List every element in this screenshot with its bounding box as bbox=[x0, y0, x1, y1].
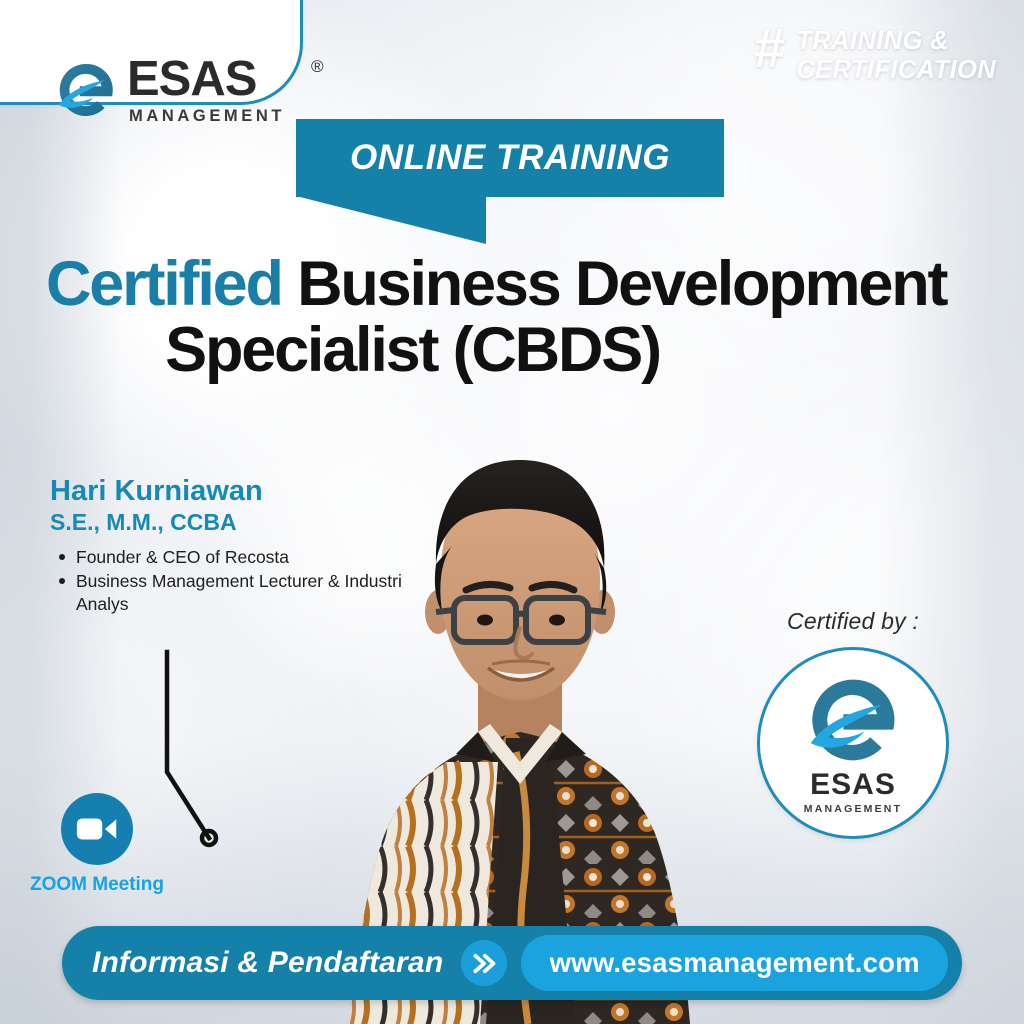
title-line-1-rest: Business Development bbox=[297, 249, 946, 319]
title-accent-word: Certified bbox=[46, 249, 282, 319]
badge-subtitle: MANAGEMENT bbox=[804, 803, 902, 815]
hash-icon: # bbox=[753, 22, 784, 74]
esas-logo: ESAS MANAGEMENT ® bbox=[55, 55, 285, 125]
poster-canvas: ESAS MANAGEMENT ® # TRAINING & CERTIFICA… bbox=[0, 0, 1024, 1024]
title-line-2: Specialist (CBDS) bbox=[46, 318, 994, 382]
esas-e-mark-icon bbox=[55, 59, 117, 121]
certified-by-block: Certified by : ESAS MANAGEMENT bbox=[744, 608, 962, 839]
zoom-meeting-label: ZOOM Meeting bbox=[22, 874, 172, 896]
training-certification-tagline: # TRAINING & CERTIFICATION bbox=[753, 22, 996, 84]
ribbon-tail bbox=[296, 196, 486, 244]
tagline-line-2: CERTIFICATION bbox=[796, 56, 996, 85]
video-camera-icon bbox=[61, 793, 133, 865]
ribbon-label: ONLINE TRAINING bbox=[296, 119, 724, 197]
online-training-ribbon: ONLINE TRAINING bbox=[296, 119, 724, 197]
badge-wordmark: ESAS bbox=[810, 770, 896, 800]
logo-subtitle: MANAGEMENT bbox=[129, 108, 285, 125]
certified-by-label: Certified by : bbox=[744, 608, 962, 635]
website-url-text: www.esasmanagement.com bbox=[550, 947, 920, 979]
esas-e-mark-icon bbox=[805, 672, 901, 768]
cta-label: Informasi & Pendaftaran bbox=[92, 946, 443, 980]
logo-wordmark: ESAS bbox=[127, 55, 285, 104]
page-title: Certified Business Development Specialis… bbox=[46, 252, 994, 383]
cta-bar[interactable]: Informasi & Pendaftaran www.esasmanageme… bbox=[62, 926, 962, 1000]
tagline-line-1: TRAINING & bbox=[796, 27, 996, 56]
zoom-meeting-block: ZOOM Meeting bbox=[22, 793, 172, 896]
double-chevron-right-icon bbox=[461, 940, 507, 986]
certified-by-badge: ESAS MANAGEMENT bbox=[757, 647, 949, 839]
website-url-pill[interactable]: www.esasmanagement.com bbox=[521, 935, 948, 991]
